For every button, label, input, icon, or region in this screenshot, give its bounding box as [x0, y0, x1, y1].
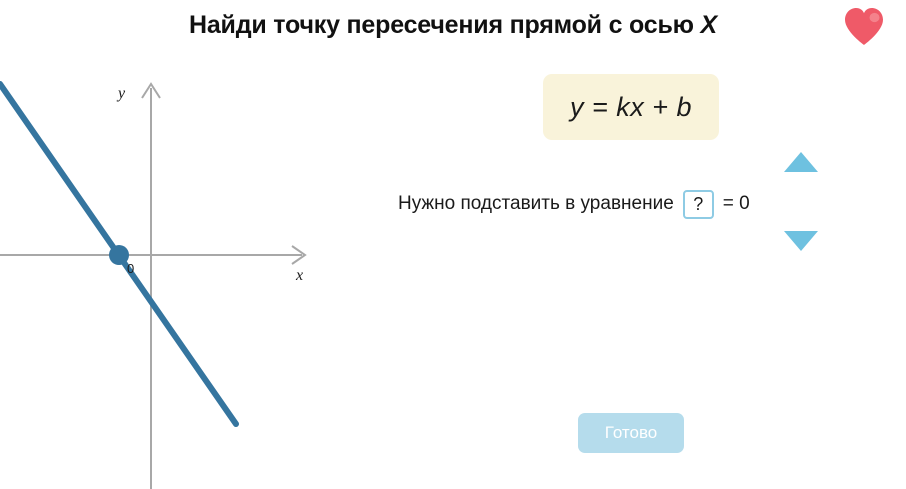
heart-icon — [843, 6, 885, 46]
header: Найди точку пересечения прямой с осью X — [0, 0, 906, 58]
spinner-down-arrow-icon[interactable] — [784, 231, 818, 251]
submit-button[interactable]: Готово — [578, 413, 684, 453]
x-axis-label: x — [295, 267, 303, 284]
equals-zero-label: = 0 — [723, 188, 750, 220]
page-title-axis-letter: X — [701, 11, 717, 39]
y-axis-label: y — [116, 85, 126, 102]
spinner-up-arrow-icon[interactable] — [784, 152, 818, 172]
substitute-row: Нужно подставить в уравнение = 0 — [398, 188, 750, 220]
y-axis — [142, 84, 160, 489]
page-title-text: Найди точку пересечения прямой с осью — [189, 11, 701, 39]
answer-input[interactable] — [683, 190, 714, 219]
x-axis — [0, 246, 305, 264]
intersection-point — [109, 245, 129, 265]
origin-label: 0 — [127, 261, 134, 276]
equation-text: y = kx + b — [570, 92, 692, 123]
coordinate-plane: y x 0 — [0, 58, 340, 489]
page-title: Найди точку пересечения прямой с осью X — [0, 11, 906, 40]
equation-card: y = kx + b — [543, 74, 719, 140]
substitute-label: Нужно подставить в уравнение — [398, 188, 674, 220]
